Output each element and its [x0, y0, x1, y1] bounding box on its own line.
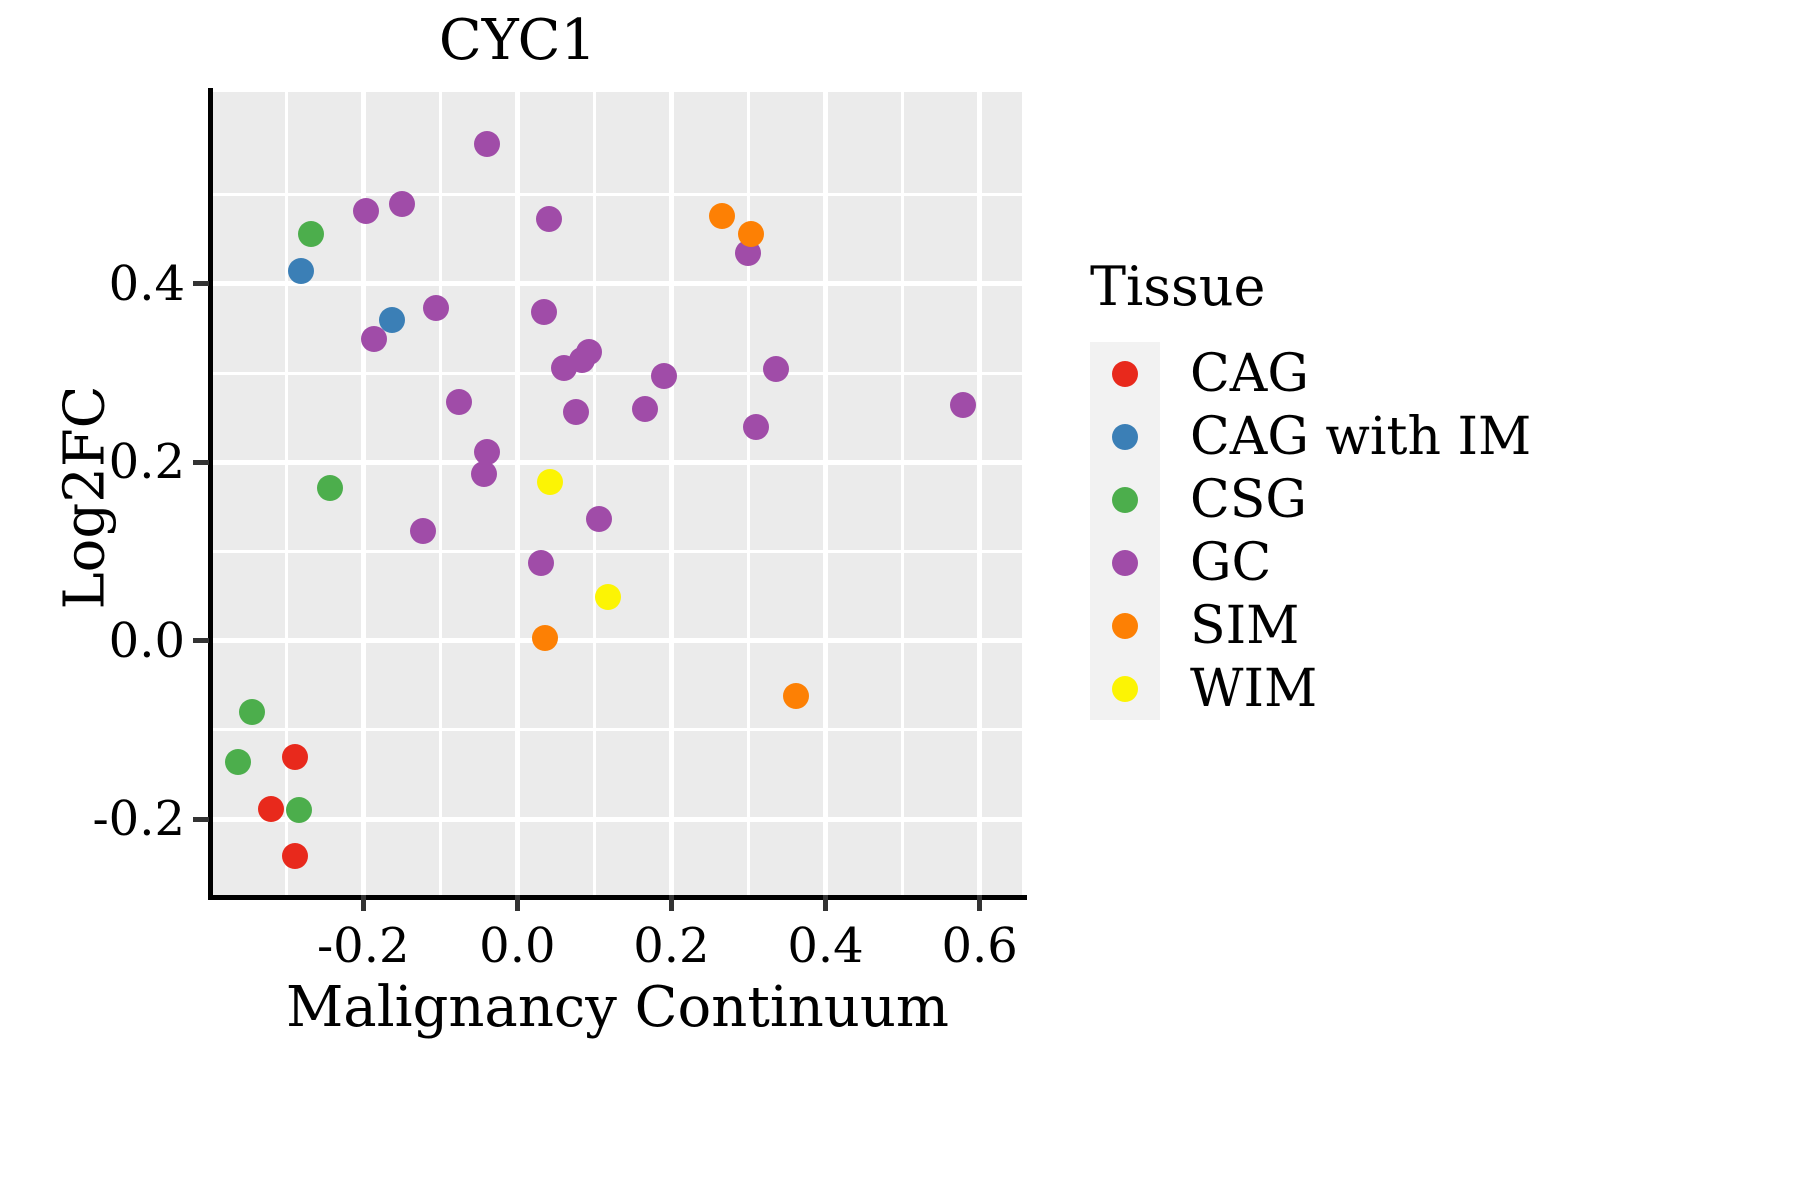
- data-point: [528, 550, 554, 576]
- data-point: [531, 299, 557, 325]
- data-point: [225, 749, 251, 775]
- y-axis-tick-label: 0.0: [109, 613, 185, 669]
- data-point: [410, 518, 436, 544]
- x-axis-tick-label: 0.6: [941, 918, 1017, 974]
- x-axis-tick-label: 0.4: [787, 918, 863, 974]
- data-point: [536, 206, 562, 232]
- legend-item-label: WIM: [1190, 663, 1317, 715]
- data-point: [286, 797, 312, 823]
- legend-key-swatch: [1090, 342, 1160, 405]
- data-point: [763, 356, 789, 382]
- gridline-vertical: [747, 92, 750, 895]
- gridline-vertical: [515, 92, 520, 895]
- x-axis-tick: [361, 895, 366, 911]
- data-point: [353, 198, 379, 224]
- data-point: [258, 796, 284, 822]
- gridline-horizontal: [213, 372, 1022, 375]
- y-axis-tick: [193, 817, 209, 822]
- legend-title: Tissue: [1090, 255, 1531, 318]
- legend-key-swatch: [1090, 657, 1160, 720]
- legend-dot-icon: [1112, 550, 1138, 576]
- data-point: [423, 295, 449, 321]
- data-point: [239, 699, 265, 725]
- data-point: [282, 744, 308, 770]
- legend-item-label: CSG: [1190, 474, 1307, 526]
- data-point: [743, 414, 769, 440]
- legend-dot-icon: [1112, 676, 1138, 702]
- legend-entries: CAGCAG with IMCSGGCSIMWIM: [1090, 342, 1531, 720]
- gridline-horizontal: [213, 460, 1022, 465]
- x-axis-title: Malignancy Continuum: [213, 975, 1022, 1040]
- gridline-horizontal: [213, 728, 1022, 731]
- legend-dot-icon: [1112, 424, 1138, 450]
- x-axis-tick-label: 0.0: [479, 918, 555, 974]
- data-point: [783, 683, 809, 709]
- legend-key-swatch: [1090, 468, 1160, 531]
- data-point: [551, 355, 577, 381]
- gridline-vertical: [285, 92, 288, 895]
- gridline-vertical: [593, 92, 596, 895]
- y-axis-tick-label: 0.2: [109, 434, 185, 490]
- legend-item-label: SIM: [1190, 600, 1299, 652]
- y-axis-tick: [193, 460, 209, 465]
- legend-dot-icon: [1112, 487, 1138, 513]
- gridline-vertical: [439, 92, 442, 895]
- gridline-horizontal: [213, 817, 1022, 822]
- y-axis-tick-label: 0.4: [109, 256, 185, 312]
- legend-item-label: GC: [1190, 537, 1271, 589]
- x-axis-tick: [823, 895, 828, 911]
- data-point: [389, 191, 415, 217]
- data-point: [651, 363, 677, 389]
- legend-key-swatch: [1090, 531, 1160, 594]
- data-point: [282, 843, 308, 869]
- legend-item-csg[interactable]: CSG: [1090, 468, 1531, 531]
- page-title: CYC1: [0, 8, 1035, 73]
- legend-item-label: CAG with IM: [1190, 411, 1531, 463]
- x-axis-tick: [669, 895, 674, 911]
- legend-dot-icon: [1112, 361, 1138, 387]
- x-axis-tick-label: 0.2: [633, 918, 709, 974]
- data-point: [317, 475, 343, 501]
- y-axis-tick: [193, 281, 209, 286]
- gridline-vertical: [977, 92, 982, 895]
- data-point: [632, 396, 658, 422]
- plot-panel: [213, 92, 1022, 895]
- legend-dot-icon: [1112, 613, 1138, 639]
- data-point: [709, 203, 735, 229]
- gridline-vertical: [1055, 92, 1058, 895]
- data-point: [361, 326, 387, 352]
- legend-item-cag-with-im[interactable]: CAG with IM: [1090, 405, 1531, 468]
- gridline-horizontal: [213, 193, 1022, 196]
- legend-item-wim[interactable]: WIM: [1090, 657, 1531, 720]
- gridline-horizontal: [213, 281, 1022, 286]
- gridline-vertical: [669, 92, 674, 895]
- y-axis-line: [208, 88, 213, 899]
- data-point: [738, 221, 764, 247]
- data-point: [950, 392, 976, 418]
- gridline-horizontal: [213, 550, 1022, 553]
- data-point: [563, 399, 589, 425]
- data-point: [288, 258, 314, 284]
- data-point: [446, 389, 472, 415]
- data-point: [595, 584, 621, 610]
- gridline-horizontal: [213, 638, 1022, 643]
- data-point: [532, 625, 558, 651]
- legend-item-gc[interactable]: GC: [1090, 531, 1531, 594]
- gridline-horizontal: [213, 907, 1022, 910]
- legend-item-sim[interactable]: SIM: [1090, 594, 1531, 657]
- y-axis-title: Log2FC: [53, 148, 118, 848]
- scatter-plot-figure: CYC1 -0.20.00.20.4-0.20.00.20.40.6 Malig…: [0, 0, 1800, 1200]
- x-axis-tick: [977, 895, 982, 911]
- data-point: [586, 506, 612, 532]
- legend-key-swatch: [1090, 405, 1160, 468]
- legend-item-cag[interactable]: CAG: [1090, 342, 1531, 405]
- gridline-vertical: [901, 92, 904, 895]
- data-point: [471, 461, 497, 487]
- x-axis-line: [208, 895, 1027, 900]
- x-axis-tick: [515, 895, 520, 911]
- legend: Tissue CAGCAG with IMCSGGCSIMWIM: [1090, 255, 1531, 720]
- data-point: [474, 131, 500, 157]
- y-axis-tick: [193, 638, 209, 643]
- gridline-vertical: [823, 92, 828, 895]
- data-point: [537, 469, 563, 495]
- legend-key-swatch: [1090, 594, 1160, 657]
- legend-item-label: CAG: [1190, 348, 1309, 400]
- data-point: [298, 221, 324, 247]
- x-axis-tick-label: -0.2: [317, 918, 410, 974]
